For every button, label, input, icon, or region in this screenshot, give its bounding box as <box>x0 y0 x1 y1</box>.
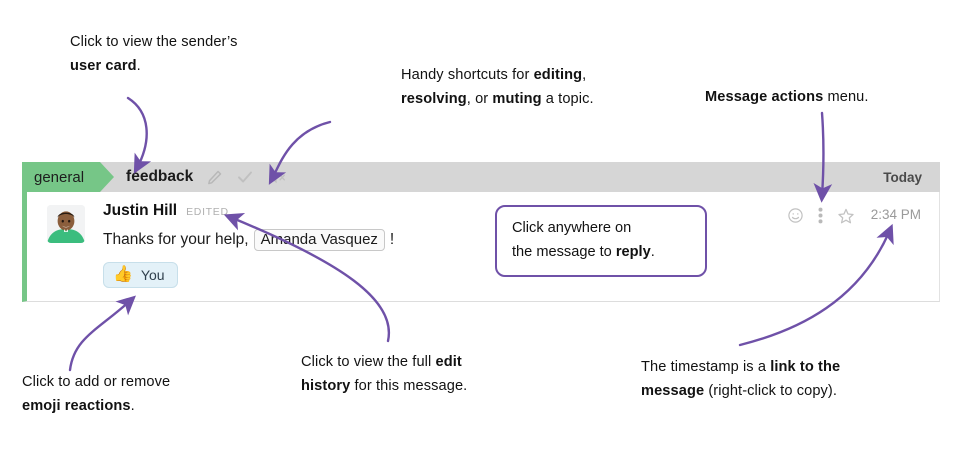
annotation-reply-line2c: . <box>651 244 655 260</box>
annotation-reply-line1: Click anywhere on <box>512 220 631 236</box>
date-label: Today <box>883 170 922 185</box>
arrow-emoji-reactions <box>70 300 131 370</box>
annotation-topic-shortcuts-l1a: Handy shortcuts for <box>401 67 534 83</box>
annotation-edit-bold1: edit <box>436 354 462 370</box>
annotation-edit-l1a: Click to view the full <box>301 354 436 370</box>
annotation-emoji-reactions: Click to add or remove emoji reactions. <box>22 371 170 418</box>
annotation-message-actions: Message actions menu. <box>705 86 869 110</box>
annotation-edit-bold2: history <box>301 378 350 394</box>
annotation-user-card-line1: Click to view the sender’s <box>70 34 238 50</box>
annotation-topic-shortcuts-l1c: , <box>582 67 586 83</box>
annotation-reply-bold: reply <box>616 244 651 260</box>
mention-pill[interactable]: Amanda Vasquez <box>254 229 385 251</box>
annotation-user-card: Click to view the sender’s user card. <box>70 31 238 78</box>
check-icon[interactable] <box>236 168 254 186</box>
annotation-topic-shortcuts-l2d: a topic. <box>542 91 594 107</box>
stream-tag[interactable]: general <box>22 162 100 192</box>
annotation-user-card-bold: user card <box>70 58 137 74</box>
annotation-emoji-line1: Click to add or remove <box>22 374 170 390</box>
topic-name[interactable]: feedback <box>126 168 193 186</box>
annotation-ts-l1a: The timestamp is a <box>641 359 770 375</box>
annotation-topic-shortcuts: Handy shortcuts for editing, resolving, … <box>401 64 594 111</box>
annotation-ts-bold1: link to the <box>770 359 840 375</box>
edited-badge[interactable]: EDITED <box>186 206 229 218</box>
sender-name[interactable]: Justin Hill <box>103 202 177 220</box>
mute-icon[interactable] <box>267 169 287 186</box>
annotation-topic-shortcuts-l2b: , or <box>467 91 493 107</box>
topic-actions <box>206 168 287 186</box>
message-text-before: Thanks for your help, <box>103 231 249 249</box>
pencil-icon[interactable] <box>206 169 223 186</box>
message-row[interactable]: Justin Hill EDITED Thanks for your help,… <box>22 192 940 302</box>
annotation-timestamp-link: The timestamp is a link to the message (… <box>641 356 840 403</box>
message-text-after: ! <box>390 231 394 249</box>
annotation-topic-shortcuts-muting: muting <box>492 91 541 107</box>
message-controls: 2:34 PM <box>787 207 921 288</box>
avatar[interactable] <box>47 205 85 243</box>
annotation-message-actions-bold: Message actions <box>705 89 823 105</box>
message-timestamp[interactable]: 2:34 PM <box>871 207 921 223</box>
annotation-reply-line2a: the message to <box>512 244 616 260</box>
annotation-emoji-tail: . <box>131 398 135 414</box>
emoji-smiley-icon[interactable] <box>787 207 804 224</box>
annotation-topic-shortcuts-editing: editing <box>534 67 583 83</box>
annotation-ts-bold2: message <box>641 383 704 399</box>
annotation-edit-l2b: for this message. <box>350 378 467 394</box>
star-icon[interactable] <box>837 207 855 225</box>
annotation-ts-l2b: (right-click to copy). <box>704 383 837 399</box>
annotated-screenshot: Click to view the sender’s user card. Ha… <box>0 0 960 451</box>
message-widget: general feedback <box>22 162 940 302</box>
vertical-dots-icon[interactable] <box>818 207 823 224</box>
arrow-user-card <box>128 98 147 168</box>
annotation-message-actions-tail: menu. <box>823 89 868 105</box>
annotation-edit-history: Click to view the full edit history for … <box>301 351 467 398</box>
annotation-topic-shortcuts-resolving: resolving <box>401 91 467 107</box>
annotation-emoji-bold: emoji reactions <box>22 398 131 414</box>
thumbs-up-icon: 👍 <box>113 267 133 283</box>
emoji-reaction-pill[interactable]: 👍 You <box>103 262 178 288</box>
reaction-label: You <box>141 267 165 283</box>
stream-name: general <box>34 169 84 186</box>
topic-bar: general feedback <box>22 162 940 192</box>
annotation-reply-box: Click anywhere on the message to reply. <box>495 205 707 277</box>
annotation-user-card-tail: . <box>137 58 141 74</box>
